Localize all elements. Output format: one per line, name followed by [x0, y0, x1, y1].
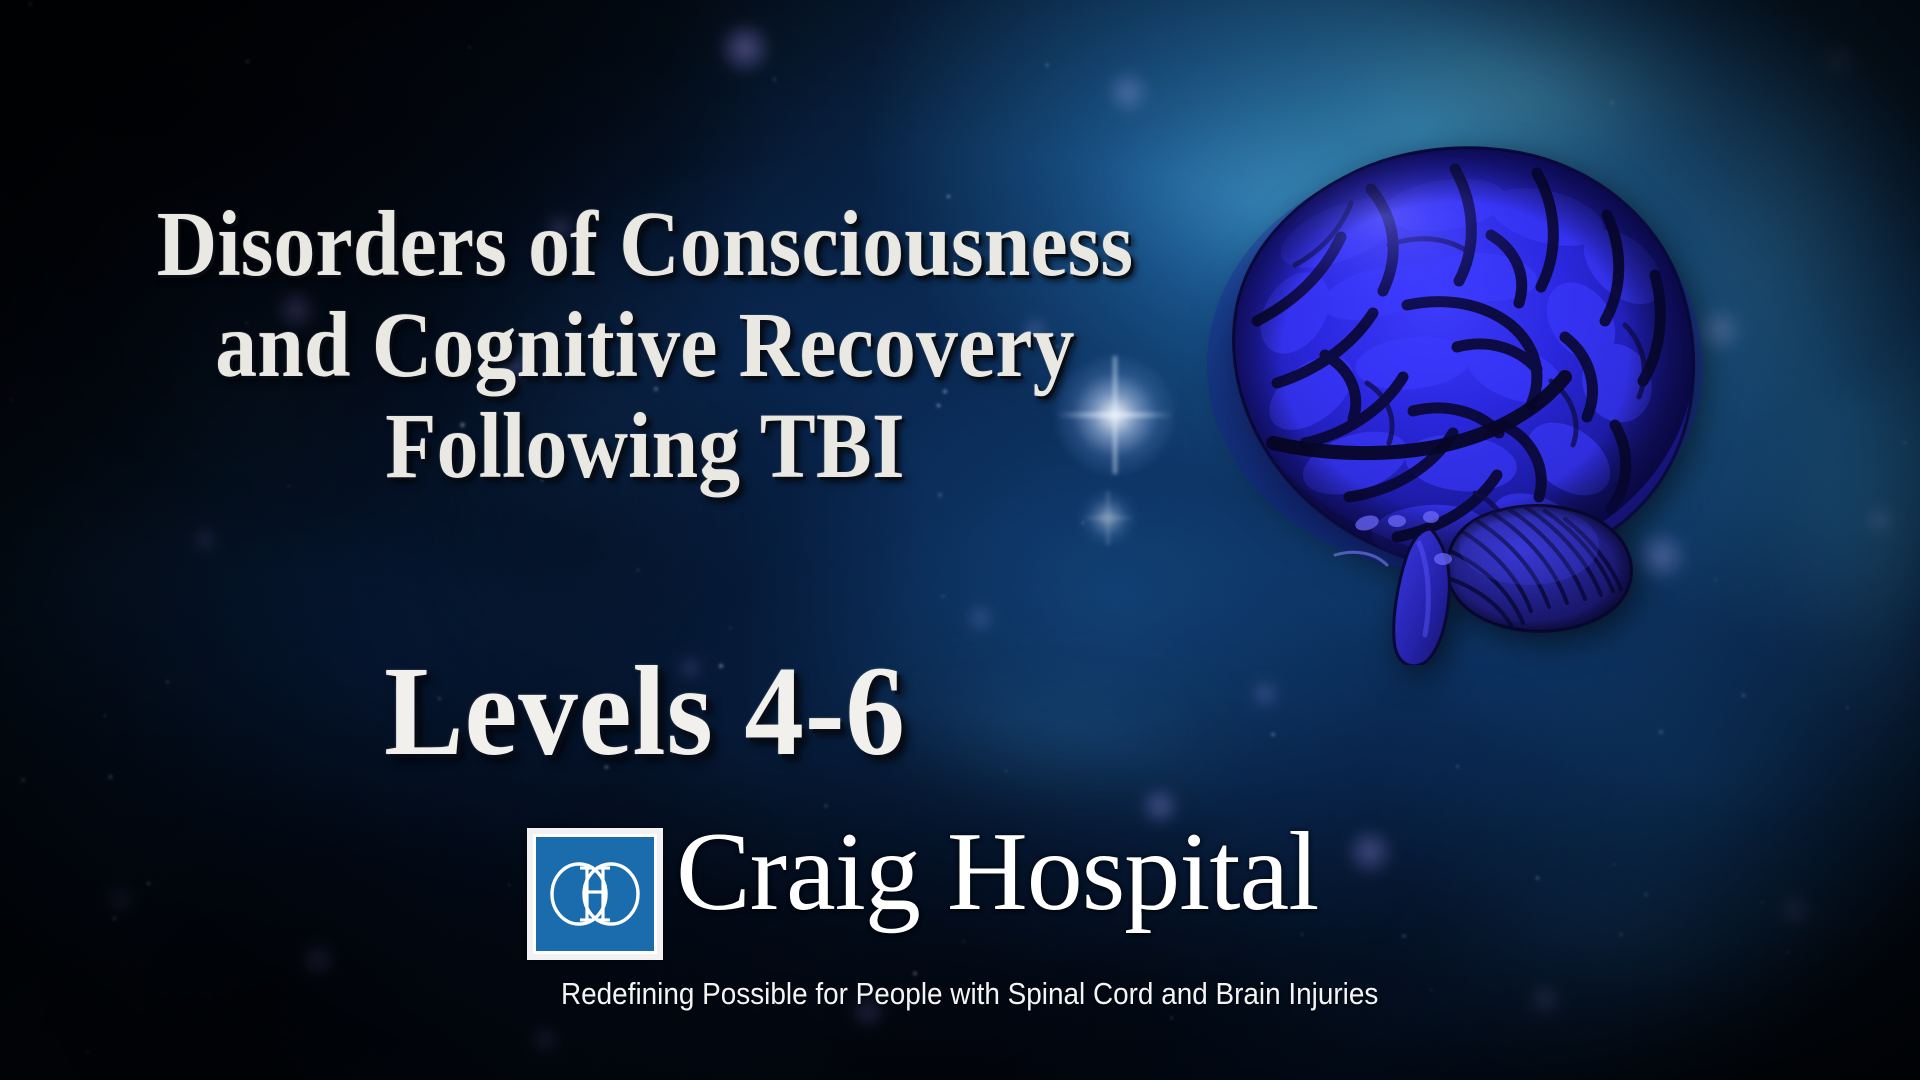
- pin-star: [729, 627, 732, 630]
- levels-subtitle: Levels 4-6: [45, 638, 1245, 785]
- pin-star: [1270, 732, 1275, 737]
- star-fleck: [1106, 70, 1150, 114]
- pin-star: [1456, 765, 1459, 768]
- pin-star: [941, 594, 945, 598]
- pin-star: [1619, 932, 1624, 937]
- star-fleck: [1346, 828, 1394, 876]
- pin-star: [112, 916, 118, 922]
- pin-star: [1658, 729, 1664, 735]
- star-fleck: [104, 884, 136, 916]
- title-line-2: and Cognitive Recovery: [65, 299, 1226, 394]
- page-title: Disorders of Consciousness and Cognitive…: [0, 198, 1290, 495]
- star-sparkle-small-icon: [1080, 490, 1136, 546]
- pin-star: [1903, 441, 1907, 445]
- title-line-3: Following TBI: [65, 400, 1226, 495]
- pin-star: [1643, 892, 1648, 897]
- pin-star: [1846, 706, 1849, 709]
- pin-star: [1045, 63, 1049, 67]
- sparkle-ray-horizontal-small: [1081, 517, 1135, 520]
- pin-star: [1081, 521, 1085, 525]
- pin-star: [146, 881, 151, 886]
- title-slide: Disorders of Consciousness and Cognitive…: [0, 0, 1920, 1080]
- star-fleck: [1864, 504, 1896, 536]
- star-fleck: [1527, 982, 1563, 1018]
- pin-star: [1609, 100, 1614, 105]
- star-fleck: [719, 22, 771, 74]
- pin-star: [20, 777, 26, 783]
- pin-star: [1535, 876, 1539, 880]
- pin-star: [245, 59, 250, 64]
- title-line-1: Disorders of Consciousness: [65, 198, 1226, 293]
- craig-hospital-logo: Craig Hospital Redefining Possible for P…: [524, 824, 1264, 1024]
- pin-star: [1613, 863, 1616, 866]
- pin-star: [27, 1, 33, 7]
- craig-hospital-tagline: Redefining Possible for People with Spin…: [561, 976, 1227, 1012]
- star-fleck: [529, 1024, 561, 1056]
- craig-hospital-wordmark: Craig Hospital: [676, 816, 1318, 928]
- craig-hospital-monogram-icon: [527, 828, 663, 960]
- pin-star: [1402, 934, 1406, 938]
- star-fleck: [964, 602, 996, 634]
- pin-star: [772, 77, 777, 82]
- pin-star: [1760, 900, 1764, 904]
- pin-star: [1430, 989, 1432, 991]
- star-fleck: [1822, 42, 1858, 78]
- star-fleck: [1777, 892, 1813, 928]
- pin-star: [468, 46, 471, 49]
- pin-star: [824, 804, 828, 808]
- pin-star: [86, 1050, 90, 1054]
- pin-star: [1741, 693, 1746, 698]
- pin-star: [508, 884, 510, 886]
- sparkle-ray-vertical-small: [1107, 491, 1110, 545]
- sparkle-core-small: [1080, 490, 1136, 546]
- star-fleck: [191, 526, 219, 554]
- star-fleck: [300, 942, 336, 978]
- pin-star: [636, 568, 640, 572]
- star-fleck: [1249, 678, 1281, 710]
- pin-star: [1786, 951, 1789, 954]
